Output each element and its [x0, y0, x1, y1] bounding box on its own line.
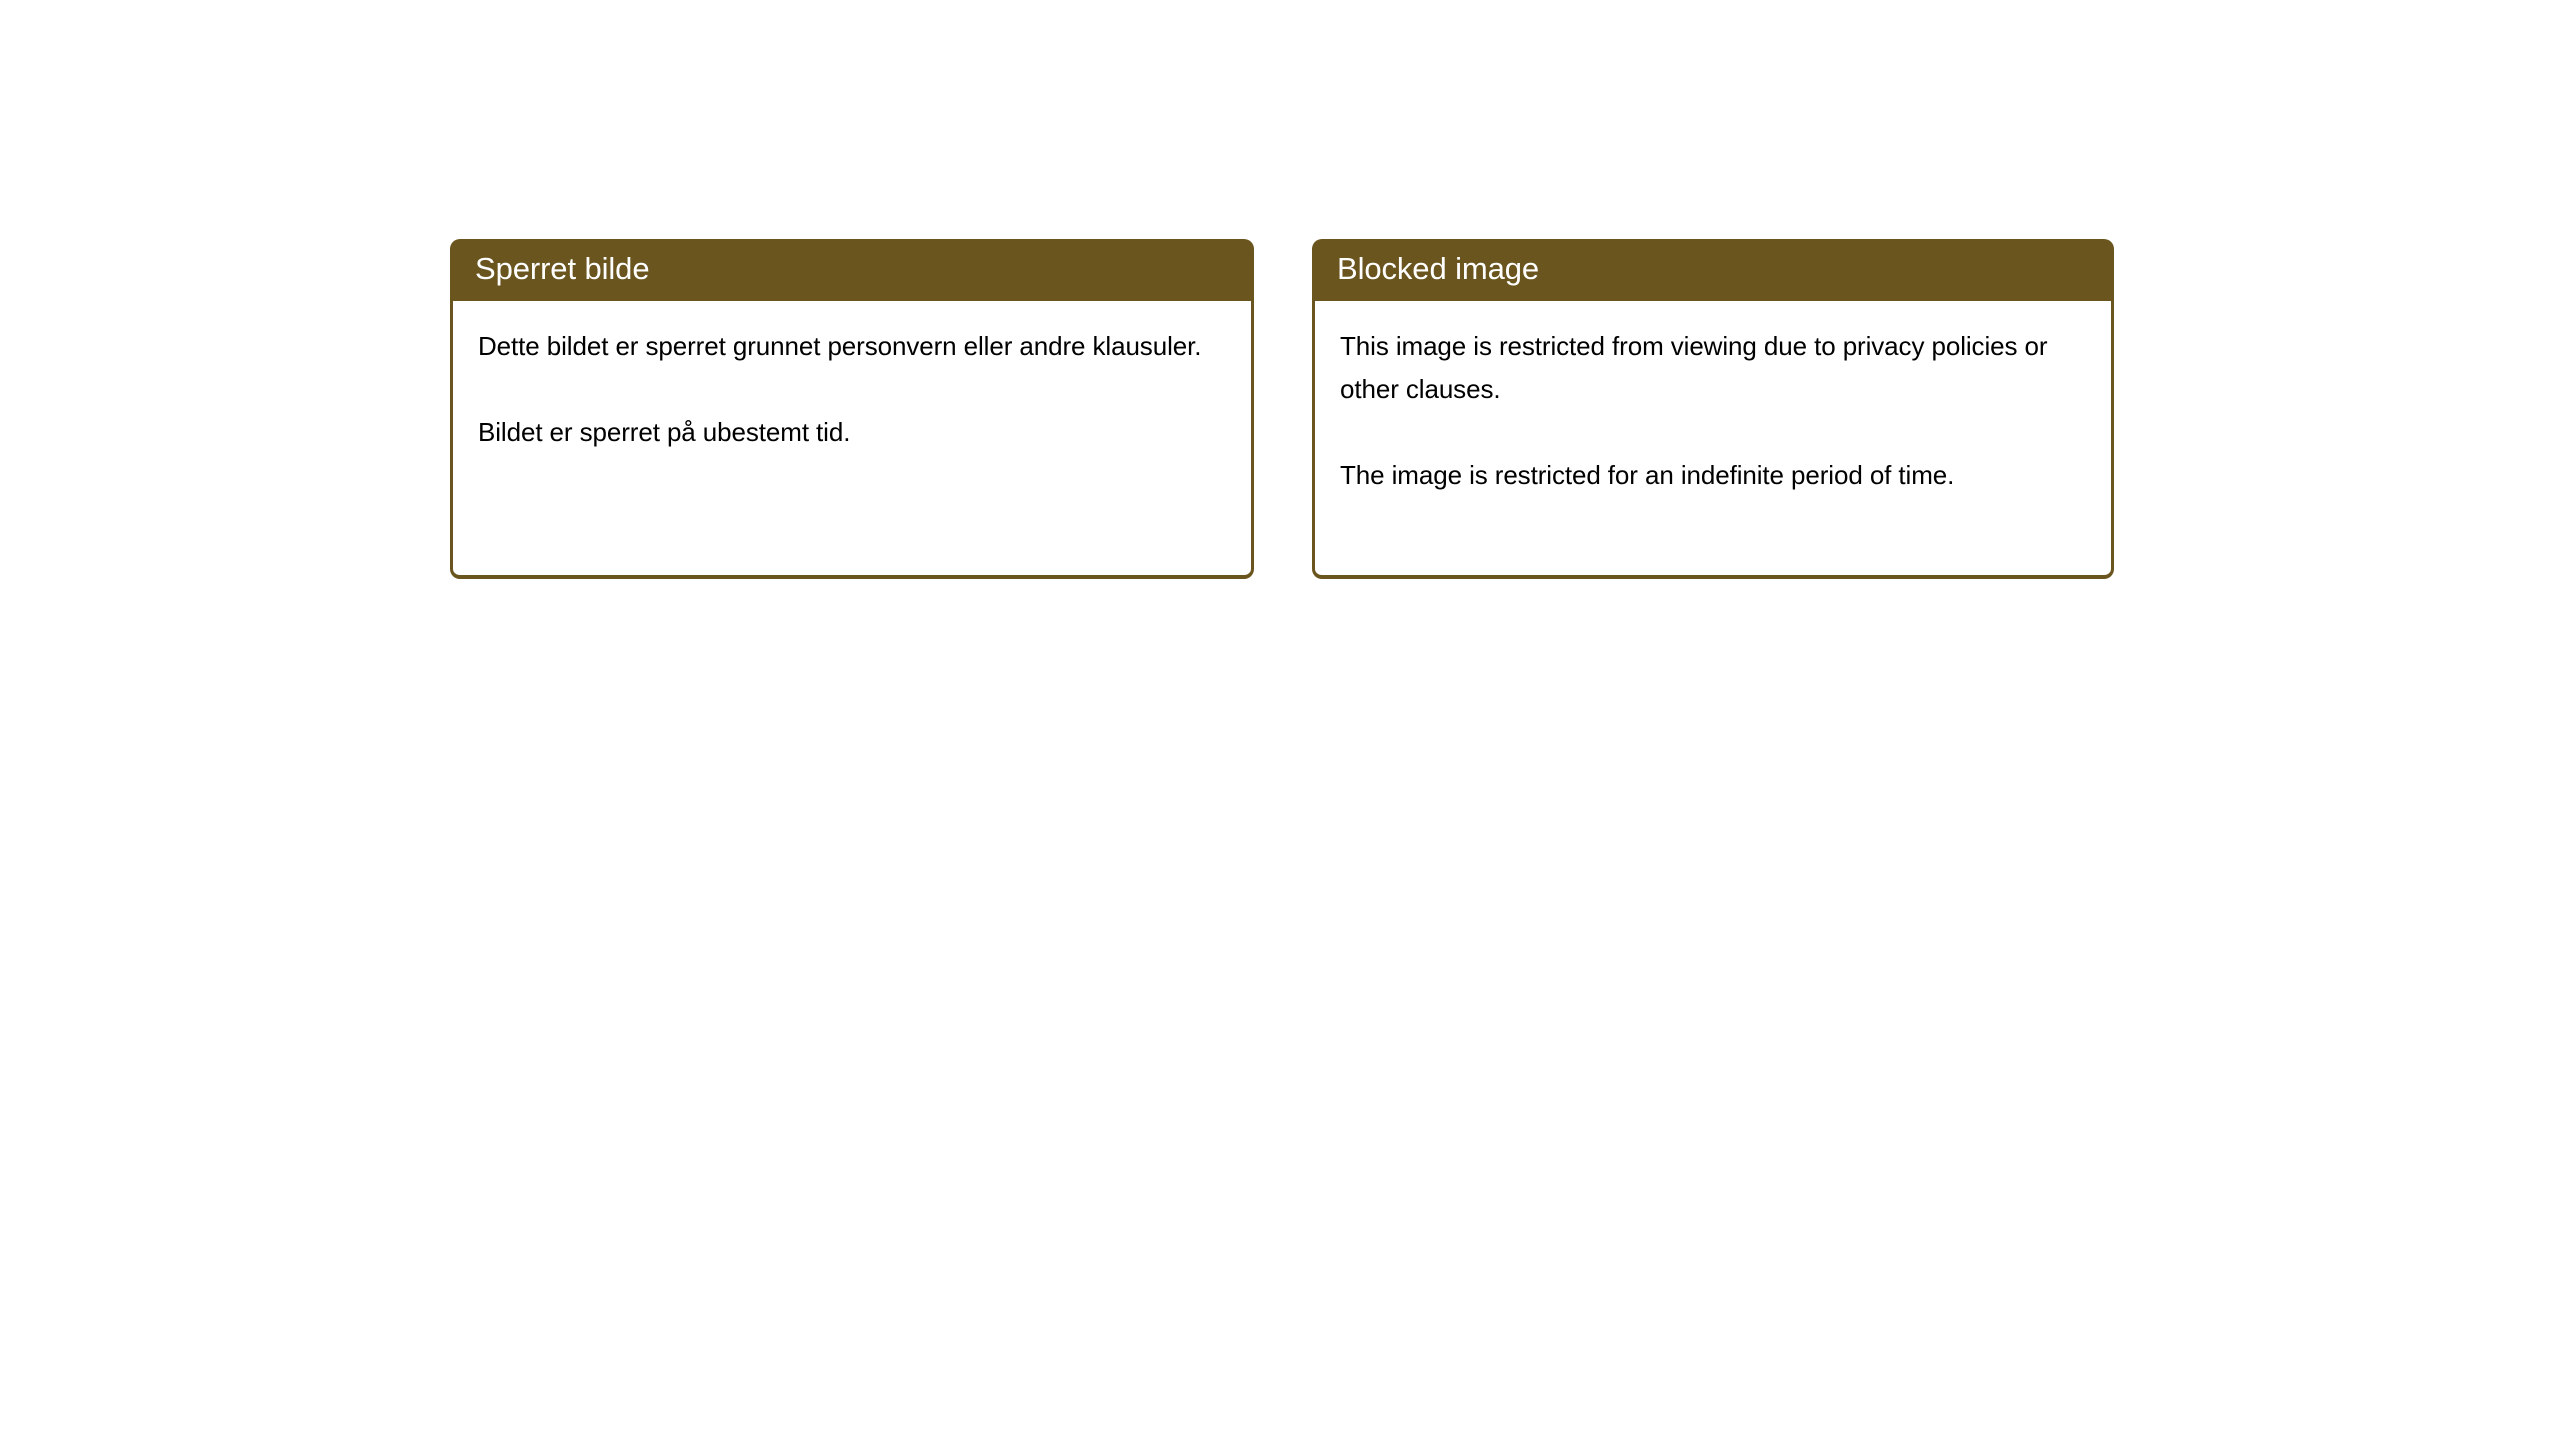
- panel-title-norwegian: Sperret bilde: [475, 253, 649, 287]
- panel-header-norwegian: Sperret bilde: [450, 239, 1254, 301]
- notice-paragraph-duration-english: The image is restricted for an indefinit…: [1340, 454, 2091, 497]
- notice-paragraph-reason-norwegian: Dette bildet er sperret grunnet personve…: [478, 325, 1231, 368]
- page-root: Sperret bilde Dette bildet er sperret gr…: [0, 0, 2560, 1440]
- blocked-image-notice-english: Blocked image This image is restricted f…: [1312, 239, 2114, 579]
- panel-header-english: Blocked image: [1312, 239, 2114, 301]
- blocked-image-notice-norwegian: Sperret bilde Dette bildet er sperret gr…: [450, 239, 1254, 579]
- notice-paragraph-reason-english: This image is restricted from viewing du…: [1340, 325, 2091, 411]
- panel-body-norwegian: Dette bildet er sperret grunnet personve…: [450, 301, 1254, 579]
- panel-body-english: This image is restricted from viewing du…: [1312, 301, 2114, 579]
- panel-title-english: Blocked image: [1337, 253, 1539, 287]
- notice-paragraph-duration-norwegian: Bildet er sperret på ubestemt tid.: [478, 411, 1231, 454]
